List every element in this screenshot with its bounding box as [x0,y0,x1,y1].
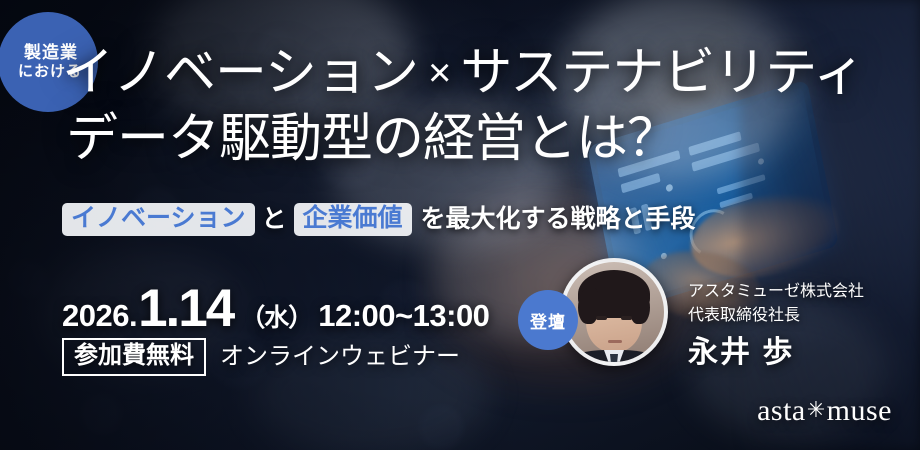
headline-line-1: イノベーション×サステナビリティ [62,48,908,100]
webinar-banner: 製造業 における イノベーション×サステナビリティ データ駆動型の経営とは？ イ… [0,0,920,450]
logo-text-part1: asta [757,394,806,428]
event-day-of-week: （水） [240,298,312,334]
headline-line-2: データ駆動型の経営とは？ [66,114,908,166]
speaker-title: 代表取締役社長 [688,304,864,328]
astamuse-logo: asta ✳ muse [757,394,892,428]
event-date-time: 2026. 1.14 （水） 12:00~13:00 [62,278,489,339]
subtitle-chip-corporate-value: 企業価値 [294,203,412,236]
event-time-range: 12:00~13:00 [318,298,489,334]
headline-topic-innovation: イノベーション [62,45,418,102]
speaker-role-badge: 登壇 [518,290,578,350]
asterisk-icon: ✳ [807,399,826,421]
event-info-row: 参加費無料 オンラインウェビナー [62,338,460,376]
headline: イノベーション×サステナビリティ データ駆動型の経営とは？ [62,48,908,166]
event-format-label: オンラインウェビナー [220,345,460,369]
subtitle-tail-text: を最大化する戦略と手段 [421,207,696,232]
logo-text-part2: muse [827,394,892,428]
speaker-details: アスタミューゼ株式会社 代表取締役社長 永井 歩 [688,280,864,371]
headline-cross-symbol: × [418,51,460,95]
event-day: 1.14 [138,278,233,339]
subtitle-connector: と [262,207,287,232]
headline-topic-sustainability: サステナビリティ [460,45,864,102]
subtitle: イノベーション と 企業価値 を最大化する戦略と手段 [62,203,696,236]
speaker-company: アスタミューゼ株式会社 [688,280,864,304]
speaker-name: 永井 歩 [688,335,864,371]
speaker-portrait-image [564,262,664,362]
free-admission-badge: 参加費無料 [62,338,206,376]
banner-content: 製造業 における イノベーション×サステナビリティ データ駆動型の経営とは？ イ… [0,0,920,450]
subtitle-chip-innovation: イノベーション [62,203,255,236]
event-year: 2026. [62,298,137,334]
